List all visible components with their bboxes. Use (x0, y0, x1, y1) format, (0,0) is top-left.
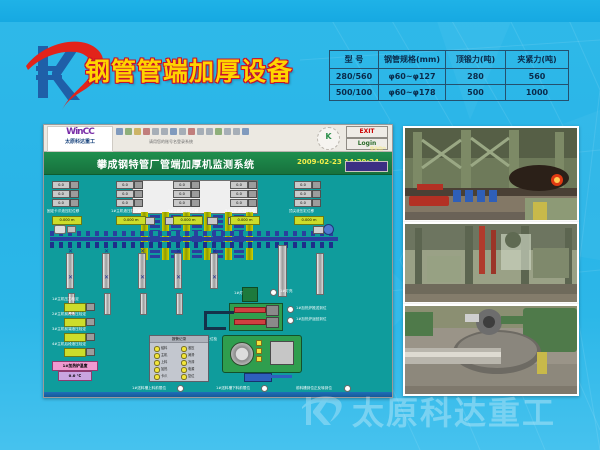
spec-table: 型 号 钢管规格(mm) 顶锻力(吨) 夹紧力(吨) 280/560 φ60~φ… (329, 50, 569, 101)
readout-value: 0.0 (116, 190, 134, 198)
indicator-b (256, 348, 262, 354)
alarm-led[interactable] (181, 346, 187, 352)
clock-gauge-icon (317, 127, 340, 150)
cell-clamp-force: 1000 (506, 85, 569, 101)
alarm-item: 复位 (188, 373, 194, 378)
cylinder-value (64, 303, 86, 312)
cylinder-unit (86, 318, 95, 326)
valve-x-icon: ✕ (176, 249, 181, 255)
trend-icon[interactable] (197, 128, 204, 135)
furnace-head (266, 317, 279, 328)
readout-unit (312, 181, 321, 189)
readout-value: 0.0 (52, 181, 70, 189)
cell-clamp-force: 560 (506, 69, 569, 85)
cell-pipe-size: φ60~φ127 (379, 69, 446, 85)
top-band (0, 0, 600, 22)
status-label: 1#加热炉推送到位 (296, 306, 326, 311)
alarm-led[interactable] (154, 360, 160, 366)
hydraulic-cylinder (210, 253, 218, 289)
alarm-led[interactable] (181, 374, 187, 380)
sensor-label: 1#送料槽下料前限位 (216, 386, 250, 391)
readout-value: 0.0 (173, 190, 191, 198)
alarm-item: 液压 (188, 345, 194, 350)
exit-button[interactable]: EXIT (346, 126, 388, 138)
carriage-arm (270, 375, 292, 378)
valve-x-icon: ✕ (212, 275, 217, 281)
alarm-item: 卡爪 (161, 373, 167, 378)
readout-value: 0.0 (173, 181, 191, 189)
cylinder-unit (86, 303, 95, 311)
group-value: 0.000 m (116, 216, 146, 225)
alarm-item: 上料 (161, 359, 167, 364)
wincc-label: WinCC (48, 127, 112, 138)
alarm-led[interactable] (181, 367, 187, 373)
readout-value: 0.0 (294, 190, 312, 198)
furnace-temp-title: 1#加热炉温度 (52, 361, 98, 371)
roller-row-bottom (50, 242, 338, 248)
conveyor-rail (50, 237, 338, 241)
readout-value: 0.0 (294, 181, 312, 189)
valve-x-icon: ✕ (212, 249, 217, 255)
settings-icon[interactable] (242, 128, 249, 135)
alarm-icon[interactable] (188, 128, 195, 135)
readout-unit (70, 199, 79, 207)
valve-x-icon: ✕ (104, 249, 109, 255)
zoom-icon[interactable] (233, 128, 240, 135)
hydraulic-cylinder (138, 253, 146, 289)
stop-icon[interactable] (143, 128, 150, 135)
hydraulic-cylinder (66, 253, 74, 289)
furnace-bar (234, 307, 266, 313)
readout-unit (191, 199, 200, 207)
open-icon[interactable] (116, 128, 123, 135)
readout-unit (248, 190, 257, 198)
alarm-item: 加热 (161, 366, 167, 371)
roller-row-top (50, 231, 338, 236)
readout-value: 0.0 (230, 199, 248, 207)
lamp-label: 1#灯亮 (280, 289, 293, 294)
cell-model: 500/100 (330, 85, 379, 101)
cut-icon[interactable] (152, 128, 159, 135)
readout-value: 0.0 (116, 199, 134, 207)
cylinder-label: 4#主机后段液压检定 (52, 342, 86, 347)
hydraulic-cylinder (174, 253, 182, 289)
hmi-user-label: 登录用户 (370, 146, 386, 152)
readout-unit (134, 181, 143, 189)
readout-unit (248, 199, 257, 207)
gearbox-icon (313, 226, 324, 234)
readout-unit (70, 181, 79, 189)
link-line (204, 311, 234, 314)
table-row: 280/560 φ60~φ127 280 560 (330, 69, 569, 85)
cylinder-value (64, 333, 86, 342)
cylinder-value (64, 318, 86, 327)
readout-unit (248, 181, 257, 189)
sensor-led (177, 385, 184, 392)
lower-cylinder (140, 293, 147, 315)
indicator-c (256, 356, 262, 362)
toolbar-icon-group[interactable] (116, 128, 249, 135)
alarm-led[interactable] (154, 346, 160, 352)
readout-value: 0.0 (230, 181, 248, 189)
alarm-item: 主机 (161, 352, 167, 357)
group-value: 0.000 m (230, 216, 260, 225)
readout-unit (312, 199, 321, 207)
group-label: 2#主机液压缸位移 (168, 209, 198, 214)
cylinder-unit (86, 333, 95, 341)
alarm-led[interactable] (154, 367, 160, 373)
sensor-label: 1#送料槽上料前限位 (132, 386, 166, 391)
die-block (270, 341, 294, 365)
save-icon[interactable] (125, 128, 132, 135)
alarm-item: 电源 (188, 366, 194, 371)
table-row: 500/100 φ60~φ178 500 1000 (330, 85, 569, 101)
carriage-block (244, 373, 272, 382)
table-header-row: 型 号 钢管规格(mm) 顶锻力(吨) 夹紧力(吨) (330, 51, 569, 69)
status-led (287, 317, 294, 324)
readout-value: 0.0 (52, 190, 70, 198)
valve-x-icon: ✕ (68, 249, 73, 255)
readout-unit (312, 190, 321, 198)
cylinder-label: 2#主机前段液压检定 (52, 312, 86, 317)
cell-model: 280/560 (330, 69, 379, 85)
sensor-label: 前料槽到位正反转到位 (296, 386, 332, 391)
group-value: 0.000 m (52, 216, 82, 225)
alarm-item: 润滑 (188, 352, 194, 357)
group-label: 固定卡爪液压缸位移 (47, 209, 79, 214)
furnace-temp-value: 0.0 ℃ (58, 371, 92, 381)
readout-value: 0.0 (116, 181, 134, 189)
group-label: 1#主机液压缸位移 (111, 209, 141, 214)
col-pipe-size: 钢管规格(mm) (379, 51, 446, 69)
slide-root: 钢管管端加厚设备 型 号 钢管规格(mm) 顶锻力(吨) 夹紧力(吨) 280/… (0, 0, 600, 450)
alarm-led[interactable] (181, 360, 187, 366)
readout-value: 0.0 (294, 199, 312, 207)
rotary-head-icon (230, 342, 254, 366)
hydraulic-cylinder (316, 253, 324, 295)
copy-icon[interactable] (161, 128, 168, 135)
hmi-mimic-diagram: 0.0 0.0 0.0 固定卡爪液压缸位移 0.000 m 0.0 0.0 0.… (44, 175, 392, 398)
col-clamp-force: 夹紧力(吨) (506, 51, 569, 69)
paste-icon[interactable] (170, 128, 177, 135)
page-title: 钢管管端加厚设备 (85, 52, 293, 88)
alarm-led[interactable] (154, 353, 160, 359)
lower-cylinder (104, 293, 111, 315)
wincc-sub-label: 太原科达重工 (48, 138, 112, 146)
group-value: 0.000 m (173, 216, 203, 225)
cylinder-label: 3#主机前端液压检定 (52, 327, 86, 332)
valve-x-icon: ✕ (68, 275, 73, 281)
cylinder-unit (86, 348, 95, 356)
readout-value: 0.0 (52, 199, 70, 207)
alarm-item: 给料 (161, 345, 167, 350)
help-icon[interactable] (224, 128, 231, 135)
cylinder-value (64, 348, 86, 357)
lamp-led (270, 289, 277, 296)
hmi-system-title: 攀成钢特管厂管端加厚机监测系统 (97, 156, 255, 171)
hmi-user-field[interactable] (345, 161, 388, 172)
readout-unit (134, 190, 143, 198)
lower-cylinder (176, 293, 183, 315)
group-label: 顶尖液压缸位移 (289, 209, 314, 214)
hmi-window: WinCC 太原科达重工 请用您的账号名登录系统 (43, 124, 393, 398)
furnace-bar (234, 319, 266, 325)
alarm-led[interactable] (154, 374, 160, 380)
col-upset-force: 顶锻力(吨) (446, 51, 506, 69)
cylinder-label: 1#主机压力检定 (52, 297, 79, 302)
readout-unit (191, 190, 200, 198)
hydraulic-cylinder (102, 253, 110, 289)
valve-x-icon: ✕ (140, 275, 145, 281)
readout-unit (70, 190, 79, 198)
pipe-tag (207, 217, 218, 225)
user-icon[interactable] (215, 128, 222, 135)
readout-unit (191, 181, 200, 189)
hmi-toolbar: WinCC 太原科达重工 请用您的账号名登录系统 (44, 125, 392, 152)
sensor-led (344, 385, 351, 392)
readout-value: 0.0 (230, 190, 248, 198)
status-label: 1#加热炉返回到位 (296, 317, 326, 322)
valve-x-icon: ✕ (104, 275, 109, 281)
valve-x-icon: ✕ (140, 249, 145, 255)
hmi-status-bar (44, 392, 392, 398)
sensor-led (261, 385, 268, 392)
link-line (204, 327, 226, 330)
alarm-list-title: 报警记录 (150, 336, 208, 343)
motor-icon (323, 224, 334, 235)
col-model: 型 号 (330, 51, 379, 69)
valve-x-icon: ✕ (176, 275, 181, 281)
cell-upset-force: 280 (446, 69, 506, 85)
toolbar-caption: 请用您的账号名登录系统 (149, 139, 193, 145)
heater-block (242, 287, 258, 302)
cell-pipe-size: φ60~φ178 (379, 85, 446, 101)
photo-upset-tooling-closeup (403, 304, 579, 396)
alarm-led[interactable] (181, 353, 187, 359)
alarm-item: 冷却 (188, 359, 194, 364)
group-label: 3#主机液压缸位移 (225, 209, 255, 214)
photo-workshop-hall (403, 222, 579, 304)
photo-workshop-rolling-line (403, 126, 579, 222)
wincc-logo: WinCC 太原科达重工 (47, 126, 113, 152)
indicator-a (256, 340, 262, 346)
group-value: 0.000 m (294, 216, 324, 225)
hmi-title-bar: 攀成钢特管厂管端加厚机监测系统 2009-02-23 14:29:24 登录用户 (44, 152, 392, 175)
valve-icon (67, 226, 76, 233)
readout-unit (134, 199, 143, 207)
furnace-head (266, 305, 279, 316)
print-icon[interactable] (134, 128, 141, 135)
undo-icon[interactable] (179, 128, 186, 135)
status-led (287, 306, 294, 313)
pump-icon (54, 225, 66, 234)
report-icon[interactable] (206, 128, 213, 135)
cell-upset-force: 500 (446, 85, 506, 101)
readout-value: 0.0 (173, 199, 191, 207)
heater-tag-label: 1#灯 (234, 291, 243, 296)
